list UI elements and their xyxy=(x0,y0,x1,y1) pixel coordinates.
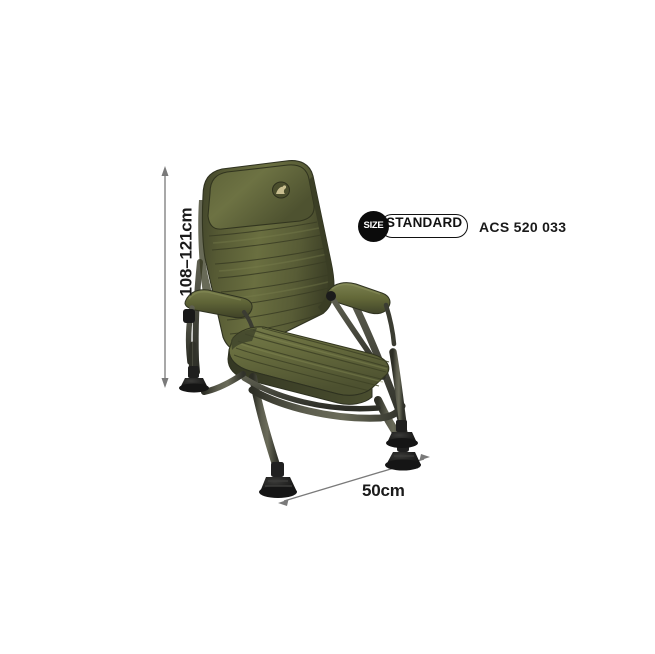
product-image-canvas: 108–121cm 50cm STANDARD SIZE ACS 520 033 xyxy=(0,0,655,654)
chair-illustration xyxy=(0,0,655,654)
size-circle-label: SIZE xyxy=(358,220,389,231)
chair-backrest xyxy=(198,161,334,352)
brand-logo-icon xyxy=(273,182,290,198)
foot-front-left xyxy=(259,462,297,498)
width-dimension-label: 50cm xyxy=(362,481,405,501)
height-dimension-line xyxy=(162,166,169,388)
rear-brace xyxy=(204,374,243,392)
product-code-label: ACS 520 033 xyxy=(479,219,566,235)
size-standard-label: STANDARD xyxy=(386,215,462,230)
height-dimension-label: 108–121cm xyxy=(176,208,196,297)
foot-back-left xyxy=(179,366,209,393)
headrest-panel xyxy=(208,165,314,229)
size-badge: STANDARD SIZE xyxy=(358,211,470,242)
